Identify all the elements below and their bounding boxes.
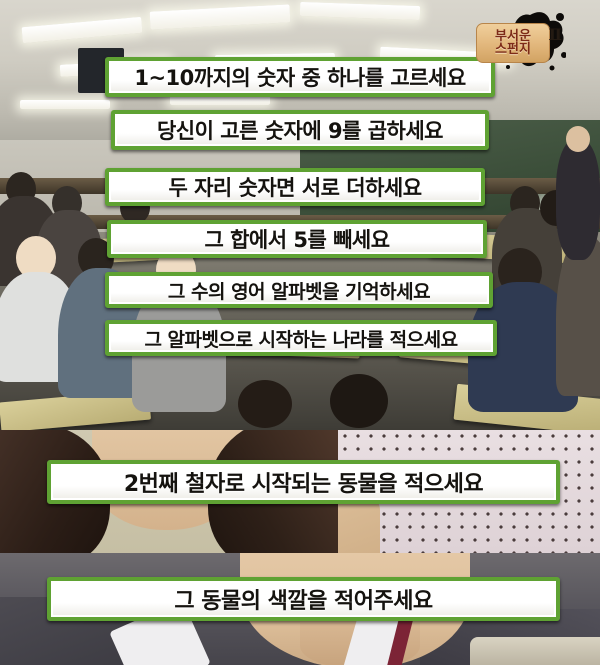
person-head — [566, 126, 590, 152]
student-head — [330, 374, 388, 428]
background-highlight — [470, 637, 600, 665]
logo-plate: 부서운 스펀지 — [476, 23, 550, 63]
panel-girl-closeup-scene: 2번째 철자로 시작되는 동물을 적으세요 — [0, 430, 600, 553]
instruction-banner-2: 당신이 고른 숫자에 9를 곱하세요 — [111, 110, 489, 150]
panel-classroom-scene: 1~10까지의 숫자 중 하나를 고르세요 당신이 고른 숫자에 9를 곱하세요… — [0, 0, 600, 430]
student-head — [238, 380, 292, 428]
instruction-banner-1: 1~10까지의 숫자 중 하나를 고르세요 — [105, 57, 495, 97]
instruction-banner-4: 그 합에서 5를 빼세요 — [107, 220, 487, 258]
instruction-text: 그 알파벳으로 시작하는 나라를 적으세요 — [144, 325, 457, 352]
instruction-text: 1~10까지의 숫자 중 하나를 고르세요 — [134, 62, 465, 92]
instruction-banner-7: 2번째 철자로 시작되는 동물을 적으세요 — [47, 460, 560, 504]
instruction-text: 그 수의 영어 알파벳을 기억하세요 — [168, 277, 430, 304]
instruction-banner-8: 그 동물의 색깔을 적어주세요 — [47, 577, 560, 621]
logo-line-2: 스펀지 — [495, 43, 531, 56]
instruction-banner-6: 그 알파벳으로 시작하는 나라를 적으세요 — [105, 320, 497, 356]
person-standing — [556, 140, 600, 260]
panel-face-closeup-scene: 그 동물의 색깔을 적어주세요 — [0, 553, 600, 665]
student — [556, 236, 600, 396]
instruction-banner-3: 두 자리 숫자면 서로 더하세요 — [105, 168, 485, 206]
screenshot-root: 1~10까지의 숫자 중 하나를 고르세요 당신이 고른 숫자에 9를 곱하세요… — [0, 0, 600, 665]
ceiling-light — [170, 96, 270, 105]
ceiling-light — [20, 100, 110, 109]
logo-roman-numeral: Ⅱ — [549, 25, 562, 44]
instruction-text: 그 동물의 색깔을 적어주세요 — [174, 583, 432, 615]
instruction-text: 당신이 고른 숫자에 9를 곱하세요 — [157, 115, 443, 145]
instruction-text: 그 합에서 5를 빼세요 — [204, 224, 389, 254]
instruction-banner-5: 그 수의 영어 알파벳을 기억하세요 — [105, 272, 493, 308]
instruction-text: 2번째 철자로 시작되는 동물을 적으세요 — [124, 466, 483, 498]
show-logo: 부서운 스펀지 Ⅱ — [474, 13, 566, 70]
instruction-text: 두 자리 숫자면 서로 더하세요 — [168, 172, 421, 202]
